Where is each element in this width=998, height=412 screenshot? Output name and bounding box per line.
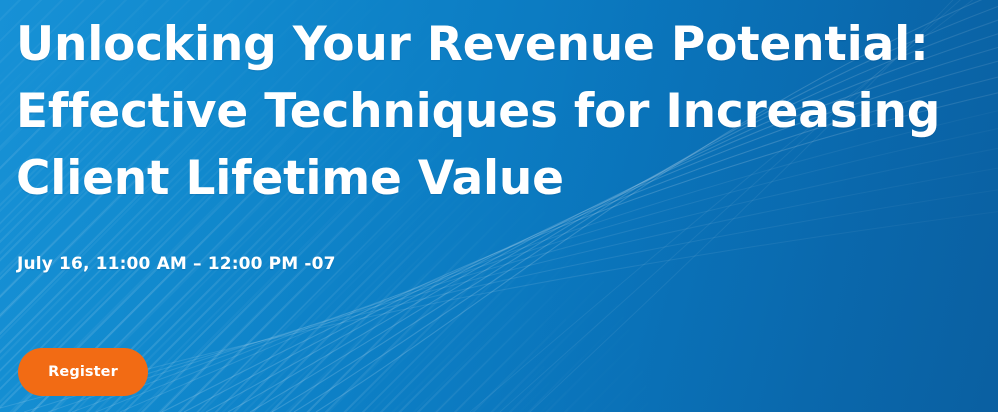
event-date-time: July 16, 11:00 AM – 12:00 PM -07 (17, 254, 336, 274)
page-title: Unlocking Your Revenue Potential: Effect… (16, 11, 940, 212)
headline-line-2: Effective Techniques for Increasing (16, 78, 940, 145)
headline-line-1: Unlocking Your Revenue Potential: (16, 11, 940, 78)
register-button[interactable]: Register (18, 348, 148, 396)
webinar-promo-banner: Unlocking Your Revenue Potential: Effect… (0, 0, 998, 412)
headline-line-3: Client Lifetime Value (16, 145, 940, 212)
banner-content: Unlocking Your Revenue Potential: Effect… (16, 0, 998, 412)
